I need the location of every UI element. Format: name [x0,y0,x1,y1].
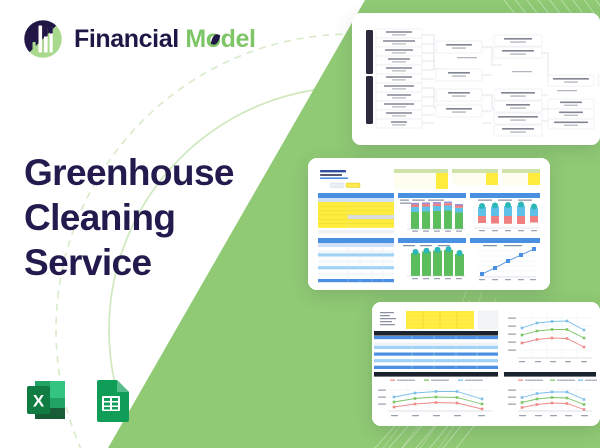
page-title-line-3: Service [24,240,234,285]
dupont-analysis-diagram [352,13,600,145]
brand-name-model-pre: M [185,25,205,53]
brand-name-financial: Financial [74,25,179,53]
excel-icon[interactable]: X [22,376,70,424]
chart-top-5-operation-streams [398,198,466,234]
page-title-line-1: Greenhouse [24,150,234,195]
chart-gross-margin-expenses-top [504,311,596,367]
preview-card-dashboard[interactable] [308,158,550,290]
financial-dashboard-preview [308,158,550,290]
page-title: Greenhouse Cleaning Service [24,150,234,285]
chart-investment-payback [470,243,540,282]
svg-text:X: X [33,392,45,411]
report-content [372,302,600,426]
brand-name-model-post: del [221,25,256,53]
page-title-line-2: Cleaning [24,195,234,240]
chart-ebitda-forecast [504,384,596,424]
google-sheets-icon[interactable] [87,376,135,424]
chart-legend-left [390,380,483,381]
preview-card-report[interactable] [372,302,600,426]
chart-legend-right [518,380,597,381]
financial-model-circle-logo [22,18,64,60]
preview-card-dupont-diagram[interactable] [352,13,600,145]
chart-gross-margin-expenses [374,384,498,424]
chart-cash-flow [398,243,466,282]
file-format-icons: X [22,376,135,424]
brand-logo[interactable]: Financial Model [22,18,256,60]
financial-report-preview [372,302,600,426]
chart-profitability [470,198,540,234]
dupont-diagram-content [352,13,600,145]
dashboard-content [308,158,550,290]
brand-wordmark: Financial Model [74,27,256,52]
promo-cover: Financial Model Greenhouse Cleaning Serv… [0,0,600,448]
brand-name-model-o-wrap: o [206,27,221,52]
